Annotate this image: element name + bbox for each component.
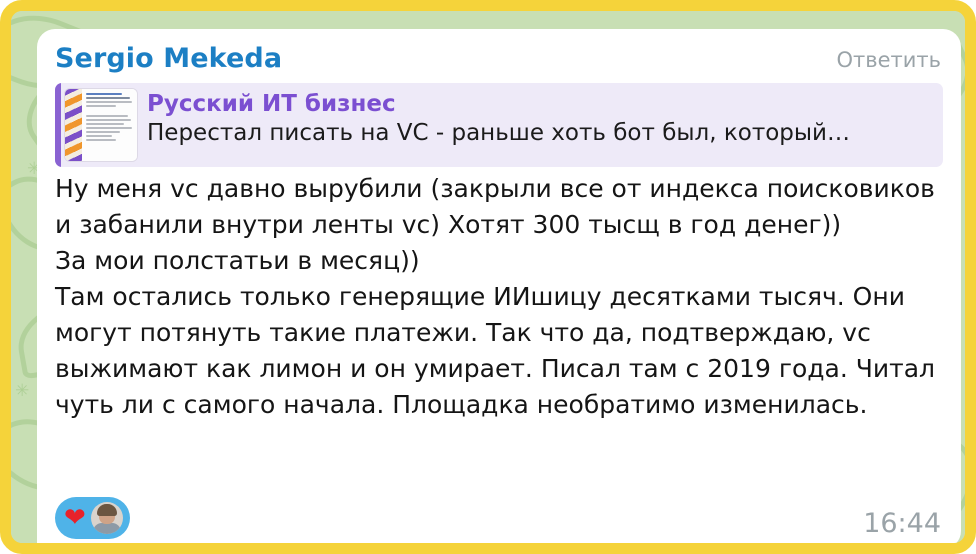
quote-thumbnail-image[interactable] bbox=[65, 89, 137, 161]
message-paragraph: Там остались только генерящие ИИшицу дес… bbox=[55, 279, 945, 423]
avatar-hair bbox=[97, 504, 117, 516]
reaction-button[interactable]: ❤ bbox=[55, 497, 130, 539]
quote-channel-title[interactable]: Русский ИТ бизнес bbox=[147, 90, 935, 118]
thumb-text-line bbox=[86, 119, 131, 121]
thumb-text-line bbox=[86, 93, 122, 95]
thumb-text-line bbox=[86, 139, 116, 141]
screenshot-frame: ✳ ✳ ✳ Sergio Mekeda Ответить bbox=[0, 0, 976, 554]
message-paragraph: Ну меня vc давно вырубили (закрыли все о… bbox=[55, 171, 945, 243]
message-header: Sergio Mekeda Ответить bbox=[55, 43, 943, 81]
message-timestamp: 16:44 bbox=[863, 507, 941, 541]
thumb-text-line bbox=[86, 135, 112, 137]
message-body: Ну меня vc давно вырубили (закрыли все о… bbox=[55, 171, 945, 423]
thumb-text-line bbox=[86, 97, 130, 99]
thumb-text-line bbox=[86, 131, 120, 133]
thumbnail-page-preview bbox=[82, 89, 137, 161]
message-footer: ❤ 16:44 bbox=[55, 497, 943, 541]
avatar-body bbox=[93, 523, 121, 534]
quote-text-column: Русский ИТ бизнес Перестал писать на VC … bbox=[145, 83, 943, 167]
thumb-text-line bbox=[86, 115, 128, 117]
quote-preview-text: Перестал писать на VC - раньше хоть бот … bbox=[147, 118, 935, 148]
quote-accent-bar bbox=[55, 83, 61, 167]
striped-book-spine-icon bbox=[65, 89, 82, 161]
thumb-text-line bbox=[86, 123, 124, 125]
message-bubble[interactable]: Sergio Mekeda Ответить bbox=[37, 29, 961, 549]
quoted-message[interactable]: Русский ИТ бизнес Перестал писать на VC … bbox=[55, 83, 943, 167]
thumb-text-line bbox=[86, 127, 132, 129]
heart-reaction-icon[interactable]: ❤ bbox=[64, 505, 86, 531]
thumb-text-line bbox=[86, 105, 116, 107]
sender-name[interactable]: Sergio Mekeda bbox=[55, 43, 943, 75]
thumb-text-line bbox=[86, 101, 132, 103]
message-paragraph: За мои полстатьи в месяц)) bbox=[55, 243, 945, 279]
wallpaper-sparkle-icon: ✳ bbox=[15, 383, 29, 400]
thumb-text-gap bbox=[86, 109, 134, 113]
avatar bbox=[91, 502, 123, 534]
reply-button[interactable]: Ответить bbox=[836, 46, 941, 74]
